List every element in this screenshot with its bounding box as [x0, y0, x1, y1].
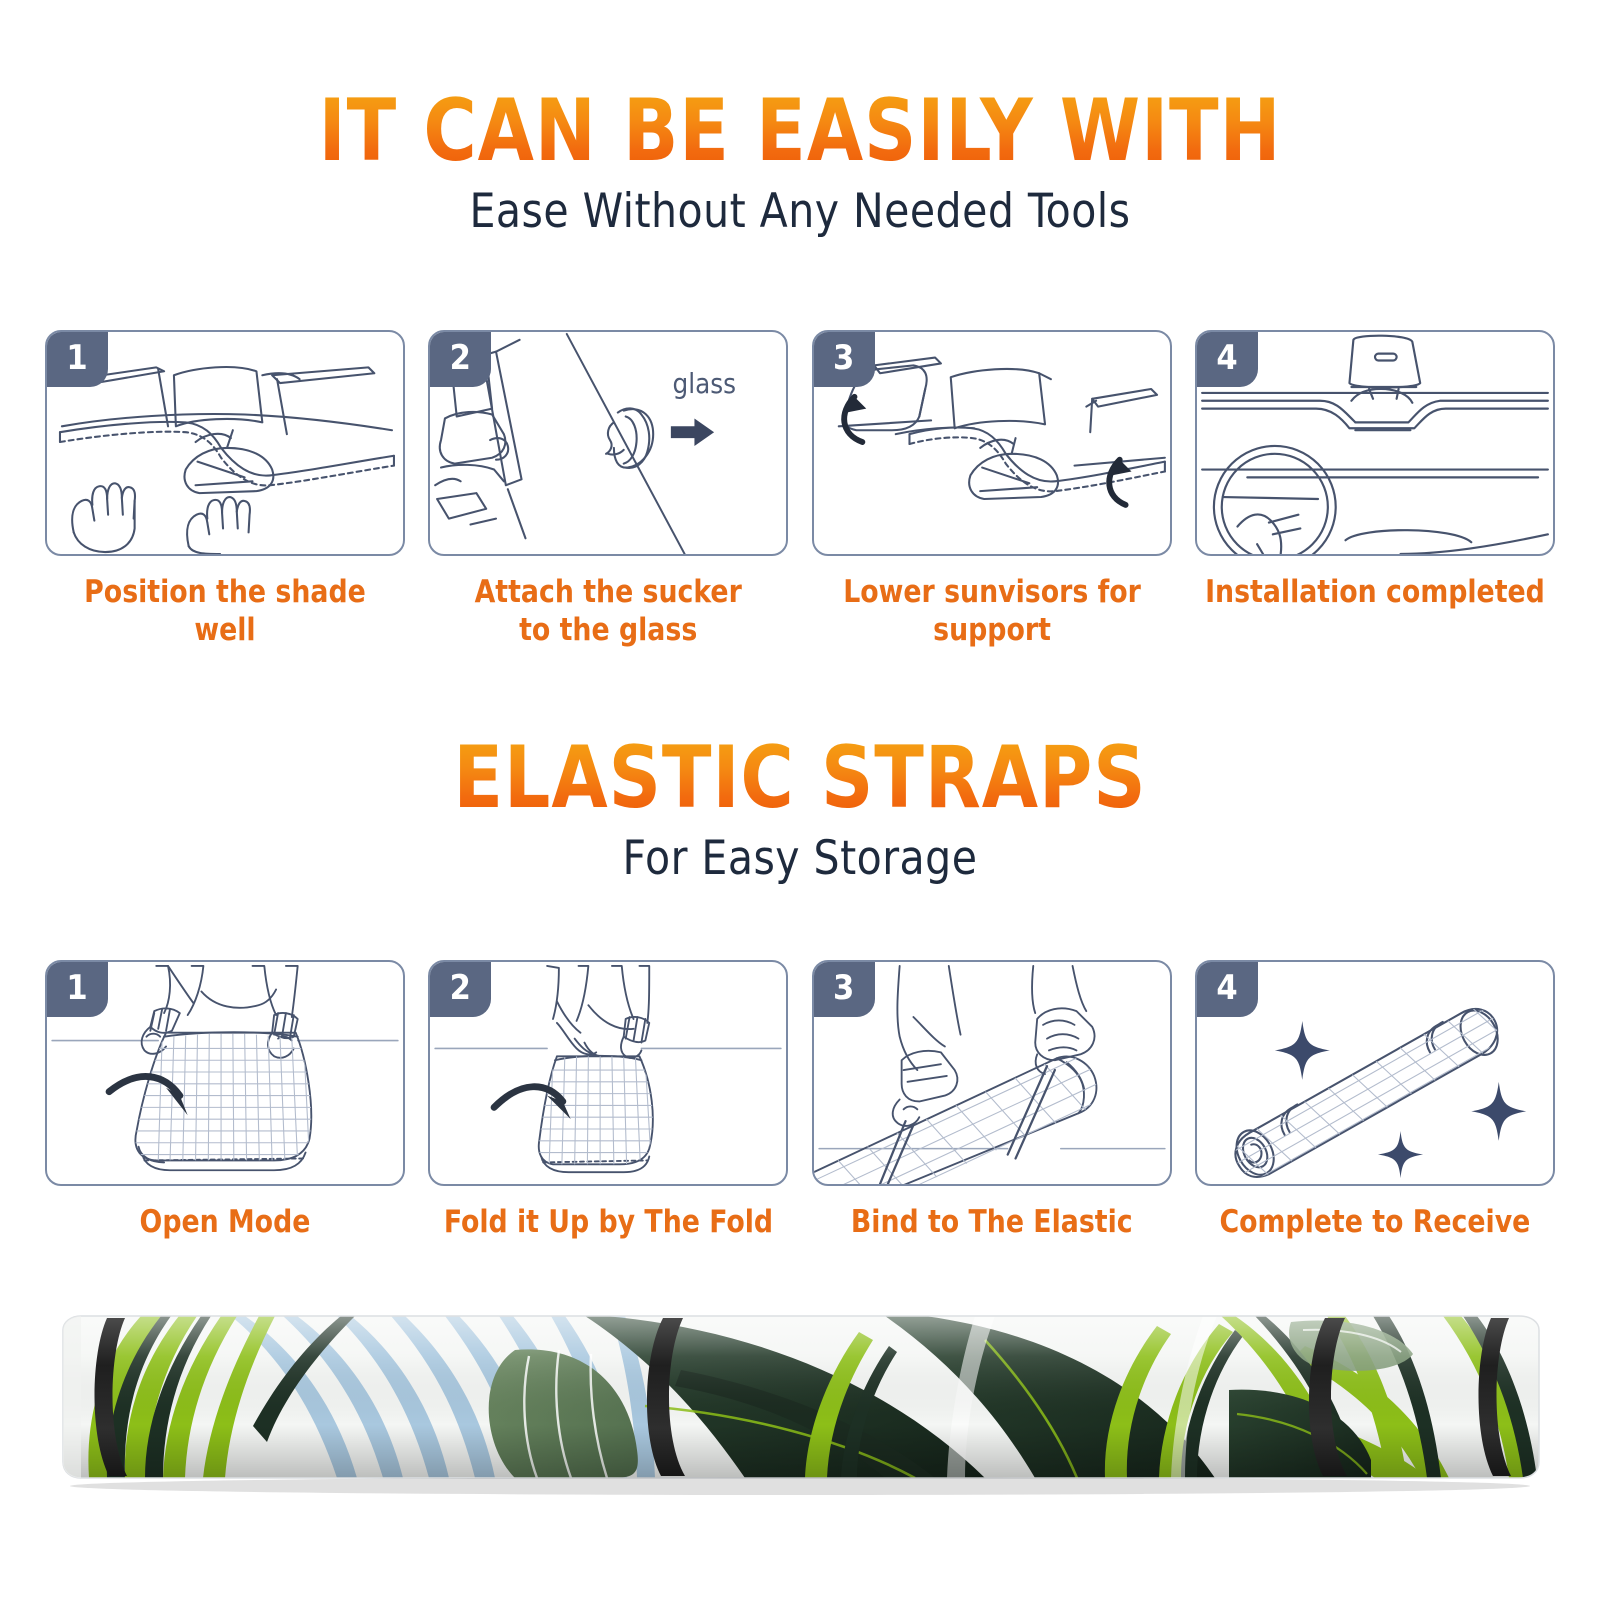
- installation-step-4[interactable]: 4: [1195, 330, 1555, 650]
- glass-label: glass: [673, 368, 737, 400]
- step-number-badge: 1: [46, 331, 108, 387]
- storage-step-2-panel[interactable]: 2: [428, 960, 788, 1186]
- installation-section-heading: IT CAN BE EASILY WITH Ease Without Any N…: [0, 88, 1600, 239]
- storage-step-4[interactable]: 4: [1195, 960, 1555, 1242]
- storage-step-1-panel[interactable]: 1: [45, 960, 405, 1186]
- storage-step-1-caption: Open Mode: [140, 1204, 311, 1242]
- step-number-badge: 3: [813, 961, 875, 1017]
- step-number-badge: 1: [46, 961, 108, 1017]
- installation-step-3-panel[interactable]: 3: [812, 330, 1172, 556]
- installation-step-2-caption: Attach the sucker to the glass: [475, 574, 742, 650]
- storage-section-heading: ELASTIC STRAPS For Easy Storage: [0, 735, 1600, 886]
- step-number-badge: 2: [429, 961, 491, 1017]
- storage-step-2[interactable]: 2: [428, 960, 788, 1242]
- storage-step-4-caption: Complete to Receive: [1220, 1204, 1531, 1242]
- installation-step-1[interactable]: 1: [45, 330, 405, 650]
- installation-step-4-caption: Installation completed: [1205, 574, 1545, 612]
- installation-step-1-caption: Position the shade well: [52, 574, 398, 650]
- installation-title: IT CAN BE EASILY WITH: [48, 88, 1552, 174]
- installation-step-4-panel[interactable]: 4: [1195, 330, 1555, 556]
- storage-step-2-caption: Fold it Up by The Fold: [444, 1204, 773, 1242]
- storage-subtitle: For Easy Storage: [24, 831, 1576, 886]
- storage-step-1[interactable]: 1: [45, 960, 405, 1242]
- storage-steps-row: 1: [45, 960, 1555, 1242]
- step-number-badge: 2: [429, 331, 491, 387]
- installation-step-3[interactable]: 3: [812, 330, 1172, 650]
- installation-step-2-panel[interactable]: 2: [428, 330, 788, 556]
- installation-step-2[interactable]: 2: [428, 330, 788, 650]
- storage-title: ELASTIC STRAPS: [48, 735, 1552, 821]
- arrow-right-icon: [671, 418, 714, 446]
- installation-step-3-caption: Lower sunvisors for support: [843, 574, 1141, 650]
- product-roll-image: [45, 1310, 1555, 1495]
- fold-arrow-icon: [494, 1087, 563, 1108]
- installation-steps-row: 1: [45, 330, 1555, 650]
- storage-step-3-panel[interactable]: 3: [812, 960, 1172, 1186]
- storage-step-3-caption: Bind to The Elastic: [851, 1204, 1133, 1242]
- installation-step-1-panel[interactable]: 1: [45, 330, 405, 556]
- storage-step-3[interactable]: 3: [812, 960, 1172, 1242]
- step-number-badge: 4: [1196, 961, 1258, 1017]
- installation-subtitle: Ease Without Any Needed Tools: [24, 184, 1576, 239]
- storage-step-4-panel[interactable]: 4: [1195, 960, 1555, 1186]
- step-number-badge: 4: [1196, 331, 1258, 387]
- step-number-badge: 3: [813, 331, 875, 387]
